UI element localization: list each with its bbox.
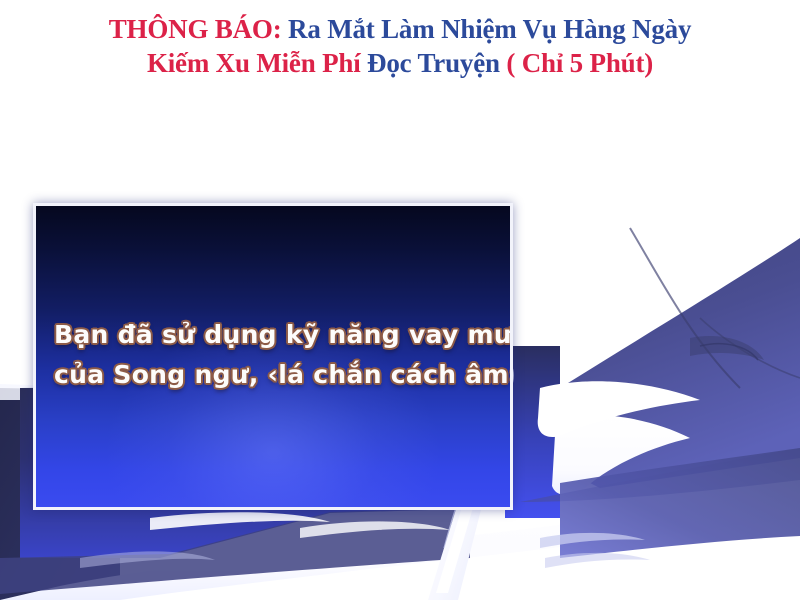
banner-line1-seg1: THÔNG BÁO: — [109, 14, 282, 44]
banner-line2-seg2: Đọc Truyện — [361, 48, 500, 78]
webtoon-page: Bạn đã sử dụng kỹ năng vay mượn của Song… — [0, 0, 800, 600]
dialog-line-1: Bạn đã sử dụng kỹ năng vay mượn — [54, 315, 492, 355]
banner-line-1: THÔNG BÁO: Ra Mắt Làm Nhiệm Vụ Hàng Ngày — [0, 12, 800, 46]
banner-line2-seg3: ( Chỉ 5 Phút) — [500, 48, 653, 78]
announcement-banner: THÔNG BÁO: Ra Mắt Làm Nhiệm Vụ Hàng Ngày… — [0, 0, 800, 96]
dialog-line-2: của Song ngư, ‹lá chắn cách âm›. — [54, 355, 492, 395]
banner-line2-seg1: Kiếm Xu Miễn Phí — [147, 48, 361, 78]
banner-line-2: Kiếm Xu Miễn Phí Đọc Truyện ( Chỉ 5 Phút… — [0, 46, 800, 80]
banner-line1-seg2: Ra Mắt Làm Nhiệm Vụ Hàng Ngày — [282, 14, 692, 44]
dialog-text: Bạn đã sử dụng kỹ năng vay mượn của Song… — [36, 315, 510, 395]
dialog-box[interactable]: Bạn đã sử dụng kỹ năng vay mượn của Song… — [33, 203, 513, 510]
